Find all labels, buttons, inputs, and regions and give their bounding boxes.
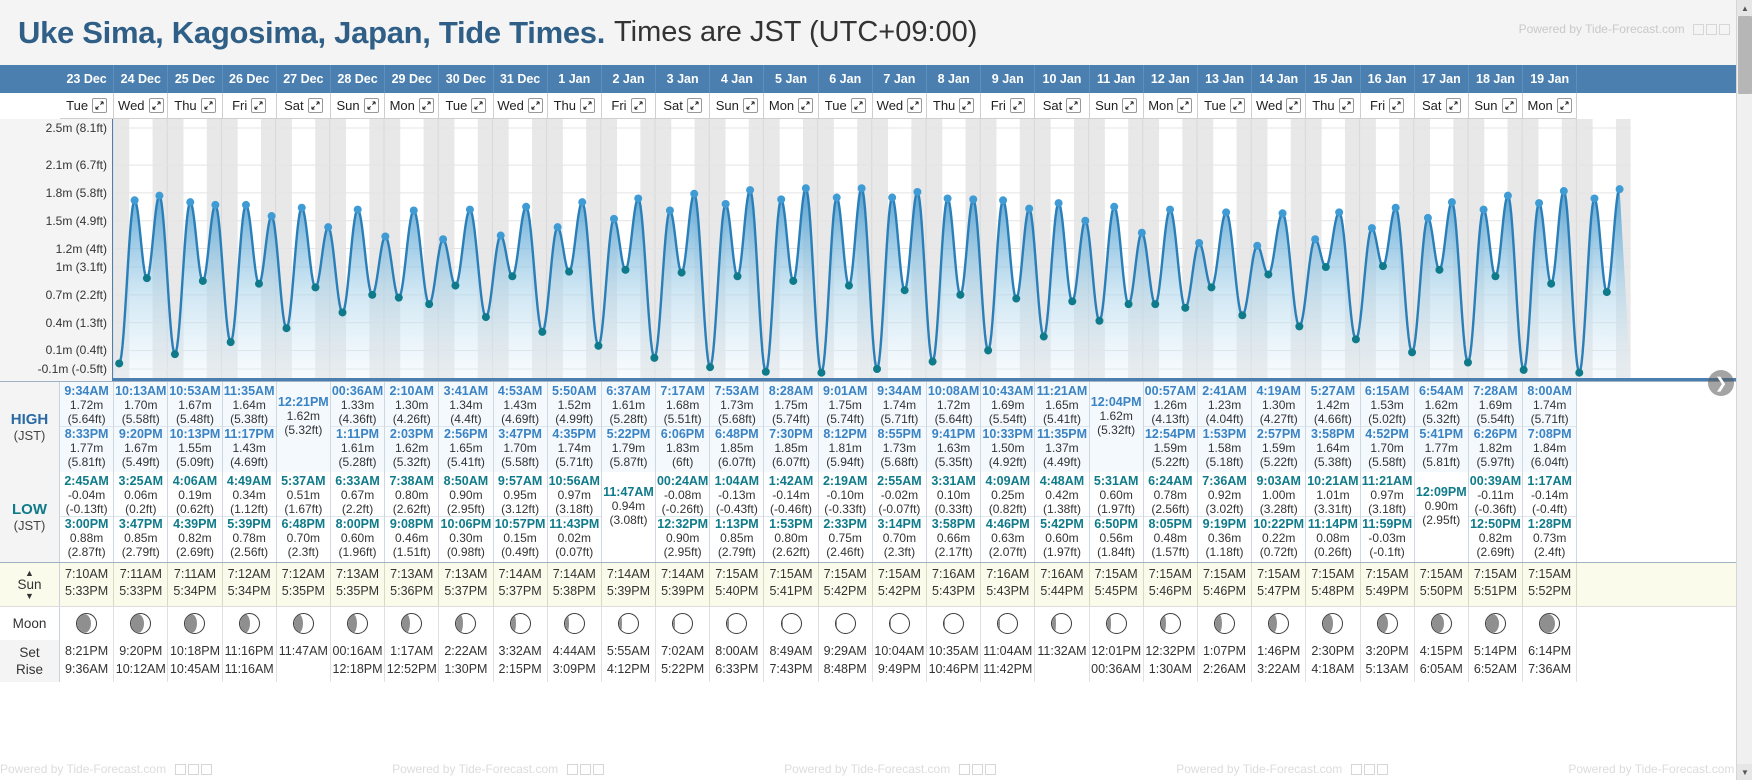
low-time: 11:47AM: [602, 485, 655, 499]
date-header-5-jan[interactable]: 5 Jan: [764, 65, 818, 93]
date-header-14-jan[interactable]: 14 Jan: [1252, 65, 1306, 93]
date-header-13-jan[interactable]: 13 Jan: [1198, 65, 1252, 93]
low-entry: 10:06PM0.30m(0.98ft): [439, 516, 492, 559]
weekday-label: Sun: [336, 93, 359, 119]
low-entry: 8:50AM0.90m(2.95ft): [439, 474, 492, 516]
weekday-header-thu[interactable]: Thu: [548, 93, 602, 119]
moon-setrise-label: Set Rise: [0, 640, 60, 682]
weekday-header-sun[interactable]: Sun: [1090, 93, 1144, 119]
moon-cell: [168, 607, 222, 640]
moon-phase-icon: [564, 613, 585, 634]
moon-setrise-cell: 12:32PM1:30AM: [1144, 640, 1198, 682]
date-header-3-jan[interactable]: 3 Jan: [656, 65, 710, 93]
page-header: Uke Sima, Kagosima, Japan, Tide Times. T…: [0, 0, 1752, 65]
weekday-header-sat[interactable]: Sat: [656, 93, 710, 119]
high-entry: 1:11PM1.61m(5.28ft): [331, 426, 384, 469]
moonrise-time: 7:36AM: [1523, 660, 1576, 678]
sunrise-time: 7:15AM: [710, 566, 763, 583]
footer-watermark-item: Powered by Tide-Forecast.com: [1568, 762, 1752, 776]
moon-phase-icon: [1485, 613, 1506, 634]
high-cell: 7:28AM1.69m(5.54ft)6:26PM1.82m(5.97ft): [1469, 382, 1523, 472]
high-height-m: 1.23m: [1198, 398, 1251, 412]
low-height-ft: (1.57ft): [1144, 545, 1197, 559]
high-height-ft: (5.81ft): [60, 455, 113, 469]
low-cell: 9:03AM1.00m(3.28ft)10:22PM0.22m(0.72ft): [1252, 472, 1306, 562]
expand-icon[interactable]: [528, 98, 543, 113]
date-header-31-dec[interactable]: 31 Dec: [494, 65, 548, 93]
date-header-18-jan[interactable]: 18 Jan: [1469, 65, 1523, 93]
low-tide-marker: [650, 354, 658, 362]
high-time: 2:03PM: [385, 427, 438, 441]
low-entry: 9:08PM0.46m(1.51ft): [385, 516, 438, 559]
high-time: 8:00AM: [1523, 384, 1576, 398]
high-height-m: 1.67m: [114, 441, 167, 455]
low-tide-marker: [621, 266, 629, 274]
expand-icon[interactable]: [798, 98, 813, 113]
high-time: 12:54PM: [1144, 427, 1197, 441]
high-height-m: 1.79m: [602, 441, 655, 455]
scroll-right-button[interactable]: ❯: [1708, 370, 1734, 396]
low-tide-marker: [368, 291, 376, 299]
date-header-4-jan[interactable]: 4 Jan: [710, 65, 764, 93]
weekday-header-sun[interactable]: Sun: [1469, 93, 1523, 119]
weekday-header-mon[interactable]: Mon: [764, 93, 818, 119]
high-height-m: 1.75m: [819, 398, 872, 412]
high-cell: 2:10AM1.30m(4.26ft)2:03PM1.62m(5.32ft): [385, 382, 439, 472]
high-cell: 10:13AM1.70m(5.58ft)9:20PM1.67m(5.49ft): [114, 382, 168, 472]
high-tide-marker: [777, 195, 785, 203]
expand-icon[interactable]: [251, 98, 266, 113]
low-time: 10:22PM: [1252, 517, 1305, 531]
expand-icon[interactable]: [364, 98, 379, 113]
moon-label: Moon: [0, 607, 60, 640]
high-height-ft: (5.58ft): [494, 455, 547, 469]
date-header-12-jan[interactable]: 12 Jan: [1144, 65, 1198, 93]
moonrise-time: 10:45AM: [168, 660, 221, 678]
high-tide-marker: [1055, 199, 1063, 207]
expand-icon[interactable]: [1122, 98, 1137, 113]
high-tide-marker: [1560, 187, 1568, 195]
moonrise-time: 9:36AM: [60, 660, 113, 678]
low-time: 2:19AM: [819, 474, 872, 488]
high-time: 8:12PM: [819, 427, 872, 441]
moonset-time: 7:02AM: [656, 642, 709, 660]
low-height-m: 0.70m: [277, 531, 330, 545]
expand-icon[interactable]: [907, 98, 922, 113]
high-height-m: 1.43m: [494, 398, 547, 412]
high-entry: 5:41PM1.77m(5.81ft): [1415, 426, 1468, 469]
date-header-1-jan[interactable]: 1 Jan: [548, 65, 602, 93]
low-time: 4:39PM: [168, 517, 221, 531]
high-height-ft: (5.71ft): [1523, 412, 1576, 426]
low-time: 3:58PM: [927, 517, 980, 531]
moonset-time: 10:04AM: [873, 642, 926, 660]
sunset-time: 5:39PM: [602, 583, 655, 600]
low-time: 5:37AM: [277, 474, 330, 488]
low-height-m: 0.46m: [385, 531, 438, 545]
weekday-header-sun[interactable]: Sun: [331, 93, 385, 119]
date-header-27-dec[interactable]: 27 Dec: [277, 65, 331, 93]
date-header-2-jan[interactable]: 2 Jan: [602, 65, 656, 93]
moon-phase-icon: [1322, 613, 1343, 634]
low-height-m: 0.82m: [168, 531, 221, 545]
high-entry: 10:13AM1.70m(5.58ft): [114, 384, 167, 426]
date-header-6-jan[interactable]: 6 Jan: [819, 65, 873, 93]
moon-cell: [331, 607, 385, 640]
powered-by-logo-icon: [1693, 24, 1730, 35]
date-header-7-jan[interactable]: 7 Jan: [873, 65, 927, 93]
low-tide-marker: [901, 286, 909, 294]
weekday-label: Tue: [1204, 93, 1226, 119]
high-entry: 6:54AM1.62m(5.32ft): [1415, 384, 1468, 426]
expand-icon[interactable]: [1446, 98, 1461, 113]
moon-cell: [1198, 607, 1252, 640]
moon-setrise-cell: 11:32AM: [1035, 640, 1089, 682]
expand-icon[interactable]: [471, 98, 486, 113]
expand-icon[interactable]: [92, 98, 107, 113]
high-height-ft: (5.38ft): [223, 412, 276, 426]
high-cell: 4:19AM1.30m(4.27ft)2:57PM1.59m(5.22ft): [1252, 382, 1306, 472]
expand-icon[interactable]: [1010, 98, 1025, 113]
sunset-time: 5:44PM: [1035, 583, 1088, 600]
high-height-m: 1.72m: [60, 398, 113, 412]
moonrise-time: 4:18AM: [1306, 660, 1359, 678]
date-header-24-dec[interactable]: 24 Dec: [114, 65, 168, 93]
expand-icon[interactable]: [743, 98, 758, 113]
high-height-ft: (4.04ft): [1198, 412, 1251, 426]
high-height-m: 1.58m: [1198, 441, 1251, 455]
low-height-m: 0.15m: [494, 531, 547, 545]
sunset-time: 5:35PM: [277, 583, 330, 600]
low-entry: 00:24AM-0.08m(-0.26ft): [656, 474, 709, 516]
date-header-17-jan[interactable]: 17 Jan: [1415, 65, 1469, 93]
expand-icon[interactable]: [851, 98, 866, 113]
high-height-ft: (6.04ft): [1523, 455, 1576, 469]
expand-icon[interactable]: [1502, 98, 1517, 113]
high-height-m: 1.73m: [873, 441, 926, 455]
moon-phase-icon: [1160, 613, 1181, 634]
footer-logo-icon: [1351, 764, 1388, 775]
expand-icon[interactable]: [419, 98, 434, 113]
high-height-ft: (5.81ft): [1415, 455, 1468, 469]
scrollbar-thumb[interactable]: [1738, 16, 1752, 94]
sun-cell: 7:15AM5:46PM: [1144, 563, 1198, 606]
date-header-25-dec[interactable]: 25 Dec: [168, 65, 222, 93]
low-entry: 4:48AM0.42m(1.38ft): [1035, 474, 1088, 516]
high-height-ft: (5.71ft): [873, 412, 926, 426]
moonrise-time: 1:30PM: [439, 660, 492, 678]
low-height-m: 0.85m: [114, 531, 167, 545]
weekday-header-sat[interactable]: Sat: [1415, 93, 1469, 119]
expand-icon[interactable]: [580, 98, 595, 113]
weekday-header-fri[interactable]: Fri: [1361, 93, 1415, 119]
moonrise-time: 5:22PM: [656, 660, 709, 678]
low-entry: 8:00PM0.60m(1.96ft): [331, 516, 384, 559]
expand-icon[interactable]: [201, 98, 216, 113]
low-height-m: 0.80m: [385, 488, 438, 502]
sun-cell: 7:12AM5:35PM: [277, 563, 331, 606]
high-tide-marker: [1279, 209, 1287, 217]
high-tide-marker: [155, 192, 163, 200]
high-height-ft: (5.35ft): [927, 455, 980, 469]
footer-watermark: Powered by Tide-Forecast.comPowered by T…: [0, 758, 1752, 780]
sun-cell: 7:15AM5:52PM: [1523, 563, 1577, 606]
low-tide-marker: [1095, 317, 1103, 325]
low-height-m: 0.42m: [1035, 488, 1088, 502]
date-header-29-dec[interactable]: 29 Dec: [385, 65, 439, 93]
low-entry: 5:31AM0.60m(1.97ft): [1090, 474, 1143, 516]
weekday-label: Tue: [445, 93, 467, 119]
high-height-m: 1.62m: [1415, 398, 1468, 412]
low-height-ft: (-0.43ft): [710, 502, 763, 516]
high-entry: 5:50AM1.52m(4.99ft): [548, 384, 601, 426]
scroll-down-arrow[interactable]: ▼: [1737, 764, 1752, 780]
date-header-10-jan[interactable]: 10 Jan: [1035, 65, 1089, 93]
weekday-header-mon[interactable]: Mon: [1523, 93, 1577, 119]
high-height-ft: (4.66ft): [1306, 412, 1359, 426]
low-tide-marker: [929, 358, 937, 366]
low-tide-marker: [1408, 348, 1416, 356]
expand-icon[interactable]: [1177, 98, 1192, 113]
weekday-header-wed[interactable]: Wed: [114, 93, 168, 119]
weekday-header-wed[interactable]: Wed: [873, 93, 927, 119]
weekday-header-mon[interactable]: Mon: [385, 93, 439, 119]
date-header-28-dec[interactable]: 28 Dec: [331, 65, 385, 93]
tide-forecast-page: Uke Sima, Kagosima, Japan, Tide Times. T…: [0, 0, 1752, 780]
low-time: 11:59PM: [1361, 517, 1414, 531]
low-entry: 11:14PM0.08m(0.26ft): [1306, 516, 1359, 559]
weekday-label: Thu: [1312, 93, 1334, 119]
weekday-header-sat[interactable]: Sat: [1035, 93, 1089, 119]
low-height-m: 0.78m: [1144, 488, 1197, 502]
low-tide-marker: [199, 277, 207, 285]
sun-label: ▲ Sun ▼: [0, 563, 60, 606]
weekday-header-wed[interactable]: Wed: [494, 93, 548, 119]
high-height-m: 1.42m: [1306, 398, 1359, 412]
weekday-header-thu[interactable]: Thu: [927, 93, 981, 119]
high-height-ft: (5.49ft): [114, 455, 167, 469]
high-tide-marker: [186, 198, 194, 206]
high-tide-marker: [666, 207, 674, 215]
weekday-header-fri[interactable]: Fri: [223, 93, 277, 119]
expand-icon[interactable]: [149, 98, 164, 113]
low-height-m: 0.02m: [548, 531, 601, 545]
low-tide-marker: [1322, 263, 1330, 271]
moonset-time: 9:20PM: [114, 642, 167, 660]
moonrise-time: 5:13AM: [1361, 660, 1414, 678]
low-height-ft: (1.97ft): [1035, 545, 1088, 559]
high-height-m: 1.74m: [1523, 398, 1576, 412]
high-time: 12:21PM: [277, 395, 330, 409]
footer-logo-icon: [567, 764, 604, 775]
low-tide-marker: [706, 363, 714, 371]
high-entry: 00:36AM1.33m(4.36ft): [331, 384, 384, 426]
moon-setrise-cell: 10:35AM10:46PM: [927, 640, 981, 682]
low-entry: 5:42PM0.60m(1.97ft): [1035, 516, 1088, 559]
date-header-19-jan[interactable]: 19 Jan: [1523, 65, 1577, 93]
high-height-ft: (5.32ft): [385, 455, 438, 469]
low-tide-marker: [282, 324, 290, 332]
scroll-up-arrow[interactable]: ▲: [1737, 0, 1752, 16]
high-time: 4:35PM: [548, 427, 601, 441]
weekday-header-sun[interactable]: Sun: [710, 93, 764, 119]
sunset-time: 5:42PM: [819, 583, 872, 600]
high-tide-marker: [298, 204, 306, 212]
high-height-ft: (5.02ft): [1361, 412, 1414, 426]
date-header-8-jan[interactable]: 8 Jan: [927, 65, 981, 93]
low-cell: 10:21AM1.01m(3.31ft)11:14PM0.08m(0.26ft): [1306, 472, 1360, 562]
low-tide-marker: [482, 313, 490, 321]
weekday-label: Wed: [118, 93, 145, 119]
high-entry: 8:00AM1.74m(5.71ft): [1523, 384, 1576, 426]
low-time: 10:57PM: [494, 517, 547, 531]
sun-cell: 7:16AM5:44PM: [1035, 563, 1089, 606]
low-entry: 3:00PM0.88m(2.87ft): [60, 516, 113, 559]
high-tide-marker: [1025, 205, 1033, 213]
low-height-m: 0.75m: [819, 531, 872, 545]
low-tide-row: LOW (JST) 2:45AM-0.04m(-0.13ft)3:00PM0.8…: [0, 472, 1752, 562]
date-header-9-jan[interactable]: 9 Jan: [981, 65, 1035, 93]
moon-setrise-cell: 10:04AM9:49PM: [873, 640, 927, 682]
low-time: 4:49AM: [223, 474, 276, 488]
moon-phase-icon: [76, 613, 97, 634]
y-axis-label: 1.2m (4ft): [56, 242, 107, 256]
y-axis-label: 1.5m (4.9ft): [46, 214, 107, 228]
high-height-m: 1.50m: [981, 441, 1034, 455]
low-entry: 12:32PM0.90m(2.95ft): [656, 516, 709, 559]
sunrise-time: 7:12AM: [277, 566, 330, 583]
moon-setrise-cell: 9:29AM8:48PM: [819, 640, 873, 682]
low-cell: 00:39AM-0.11m(-0.36ft)12:50PM0.82m(2.69f…: [1469, 472, 1523, 562]
low-height-ft: (0.49ft): [494, 545, 547, 559]
expand-icon[interactable]: [631, 98, 646, 113]
low-tide-marker: [1264, 270, 1272, 278]
sunset-time: 5:35PM: [331, 583, 384, 600]
sun-cell: 7:15AM5:40PM: [710, 563, 764, 606]
low-height-ft: (0.2ft): [114, 502, 167, 516]
high-time: 9:34AM: [873, 384, 926, 398]
low-entry: 6:50PM0.56m(1.84ft): [1090, 516, 1143, 559]
sunrise-time: 7:14AM: [548, 566, 601, 583]
weekday-header-wed[interactable]: Wed: [1252, 93, 1306, 119]
low-cell: 7:38AM0.80m(2.62ft)9:08PM0.46m(1.51ft): [385, 472, 439, 562]
vertical-scrollbar[interactable]: ▲ ▼: [1736, 0, 1752, 780]
sun-cell: 7:16AM5:43PM: [981, 563, 1035, 606]
low-entry: 11:47AM0.94m(3.08ft): [602, 474, 655, 527]
high-tide-marker: [354, 206, 362, 214]
high-time: 7:17AM: [656, 384, 709, 398]
high-entry: 10:08AM1.72m(5.64ft): [927, 384, 980, 426]
weekday-header-thu[interactable]: Thu: [168, 93, 222, 119]
moonset-time: 5:55AM: [602, 642, 655, 660]
expand-icon[interactable]: [1230, 98, 1245, 113]
date-header-26-dec[interactable]: 26 Dec: [223, 65, 277, 93]
expand-icon[interactable]: [1339, 98, 1354, 113]
high-height-m: 1.26m: [1144, 398, 1197, 412]
moon-phase-icon: [455, 613, 476, 634]
high-height-m: 1.74m: [873, 398, 926, 412]
low-time: 1:13PM: [710, 517, 763, 531]
weekday-header-tue[interactable]: Tue: [60, 93, 114, 119]
moon-cell: [1361, 607, 1415, 640]
moon-setrise-cell: 11:16PM11:16AM: [223, 640, 277, 682]
weekday-header-tue[interactable]: Tue: [1198, 93, 1252, 119]
sunset-time: 5:37PM: [494, 583, 547, 600]
low-height-m: 0.10m: [927, 488, 980, 502]
weekday-header-thu[interactable]: Thu: [1306, 93, 1360, 119]
weekday-header-tue[interactable]: Tue: [439, 93, 493, 119]
expand-icon[interactable]: [1286, 98, 1301, 113]
date-header-16-jan[interactable]: 16 Jan: [1361, 65, 1415, 93]
high-tide-marker: [211, 201, 219, 209]
expand-icon[interactable]: [959, 98, 974, 113]
footer-logo-icon: [959, 764, 996, 775]
low-height-m: 0.60m: [1035, 531, 1088, 545]
low-time: 1:42AM: [764, 474, 817, 488]
low-entry: 8:05PM0.48m(1.57ft): [1144, 516, 1197, 559]
high-tide-marker: [268, 212, 276, 220]
low-tide-marker: [1575, 369, 1583, 377]
date-header-30-dec[interactable]: 30 Dec: [439, 65, 493, 93]
low-cell: 9:57AM0.95m(3.12ft)10:57PM0.15m(0.49ft): [494, 472, 548, 562]
expand-icon[interactable]: [1557, 98, 1572, 113]
expand-icon[interactable]: [1389, 98, 1404, 113]
expand-icon[interactable]: [308, 98, 323, 113]
high-height-m: 1.77m: [1415, 441, 1468, 455]
low-height-m: 0.63m: [981, 531, 1034, 545]
expand-icon[interactable]: [1066, 98, 1081, 113]
y-axis: 2.5m (8.1ft)2.1m (6.7ft)1.8m (5.8ft)1.5m…: [0, 119, 112, 381]
low-entry: 9:19PM0.36m(1.18ft): [1198, 516, 1251, 559]
high-entry: 4:35PM1.74m(5.71ft): [548, 426, 601, 469]
weekday-header-sat[interactable]: Sat: [277, 93, 331, 119]
date-header-23-dec[interactable]: 23 Dec: [60, 65, 114, 93]
low-cell: 4:48AM0.42m(1.38ft)5:42PM0.60m(1.97ft): [1035, 472, 1089, 562]
low-time: 10:56AM: [548, 474, 601, 488]
low-height-ft: (2.56ft): [1144, 502, 1197, 516]
high-height-ft: (5.41ft): [439, 455, 492, 469]
weekday-header-mon[interactable]: Mon: [1144, 93, 1198, 119]
weekday-label: Wed: [497, 93, 524, 119]
weekday-header-tue[interactable]: Tue: [819, 93, 873, 119]
high-cell: 8:28AM1.75m(5.74ft)7:30PM1.85m(6.07ft): [764, 382, 818, 472]
moonrise-time: 11:16AM: [223, 660, 276, 678]
moonset-time: 1:07PM: [1198, 642, 1251, 660]
high-cell: 11:35AM1.64m(5.38ft)11:17PM1.43m(4.69ft): [223, 382, 277, 472]
low-time: 6:24AM: [1144, 474, 1197, 488]
high-height-ft: (5.54ft): [1469, 412, 1522, 426]
sunrise-time: 7:11AM: [168, 566, 221, 583]
high-entry: 2:56PM1.65m(5.41ft): [439, 426, 492, 469]
high-time: 4:19AM: [1252, 384, 1305, 398]
date-header-15-jan[interactable]: 15 Jan: [1306, 65, 1360, 93]
date-header-11-jan[interactable]: 11 Jan: [1090, 65, 1144, 93]
low-tide-marker: [143, 274, 151, 282]
y-axis-label: 0.1m (0.4ft): [46, 343, 107, 357]
moonrise-time: 4:12PM: [602, 660, 655, 678]
weekday-header-fri[interactable]: Fri: [981, 93, 1035, 119]
moon-setrise-cell: 8:00AM6:33PM: [710, 640, 764, 682]
high-height-ft: (5.54ft): [981, 412, 1034, 426]
low-height-m: 0.90m: [439, 488, 492, 502]
expand-icon[interactable]: [687, 98, 702, 113]
moon-phase-icon: [889, 613, 910, 634]
low-cell: 7:36AM0.92m(3.02ft)9:19PM0.36m(1.18ft): [1198, 472, 1252, 562]
sunset-time: 5:49PM: [1361, 583, 1414, 600]
weekday-header-fri[interactable]: Fri: [602, 93, 656, 119]
footer-watermark-item: Powered by Tide-Forecast.com: [0, 762, 212, 776]
low-height-ft: (2.3ft): [873, 545, 926, 559]
